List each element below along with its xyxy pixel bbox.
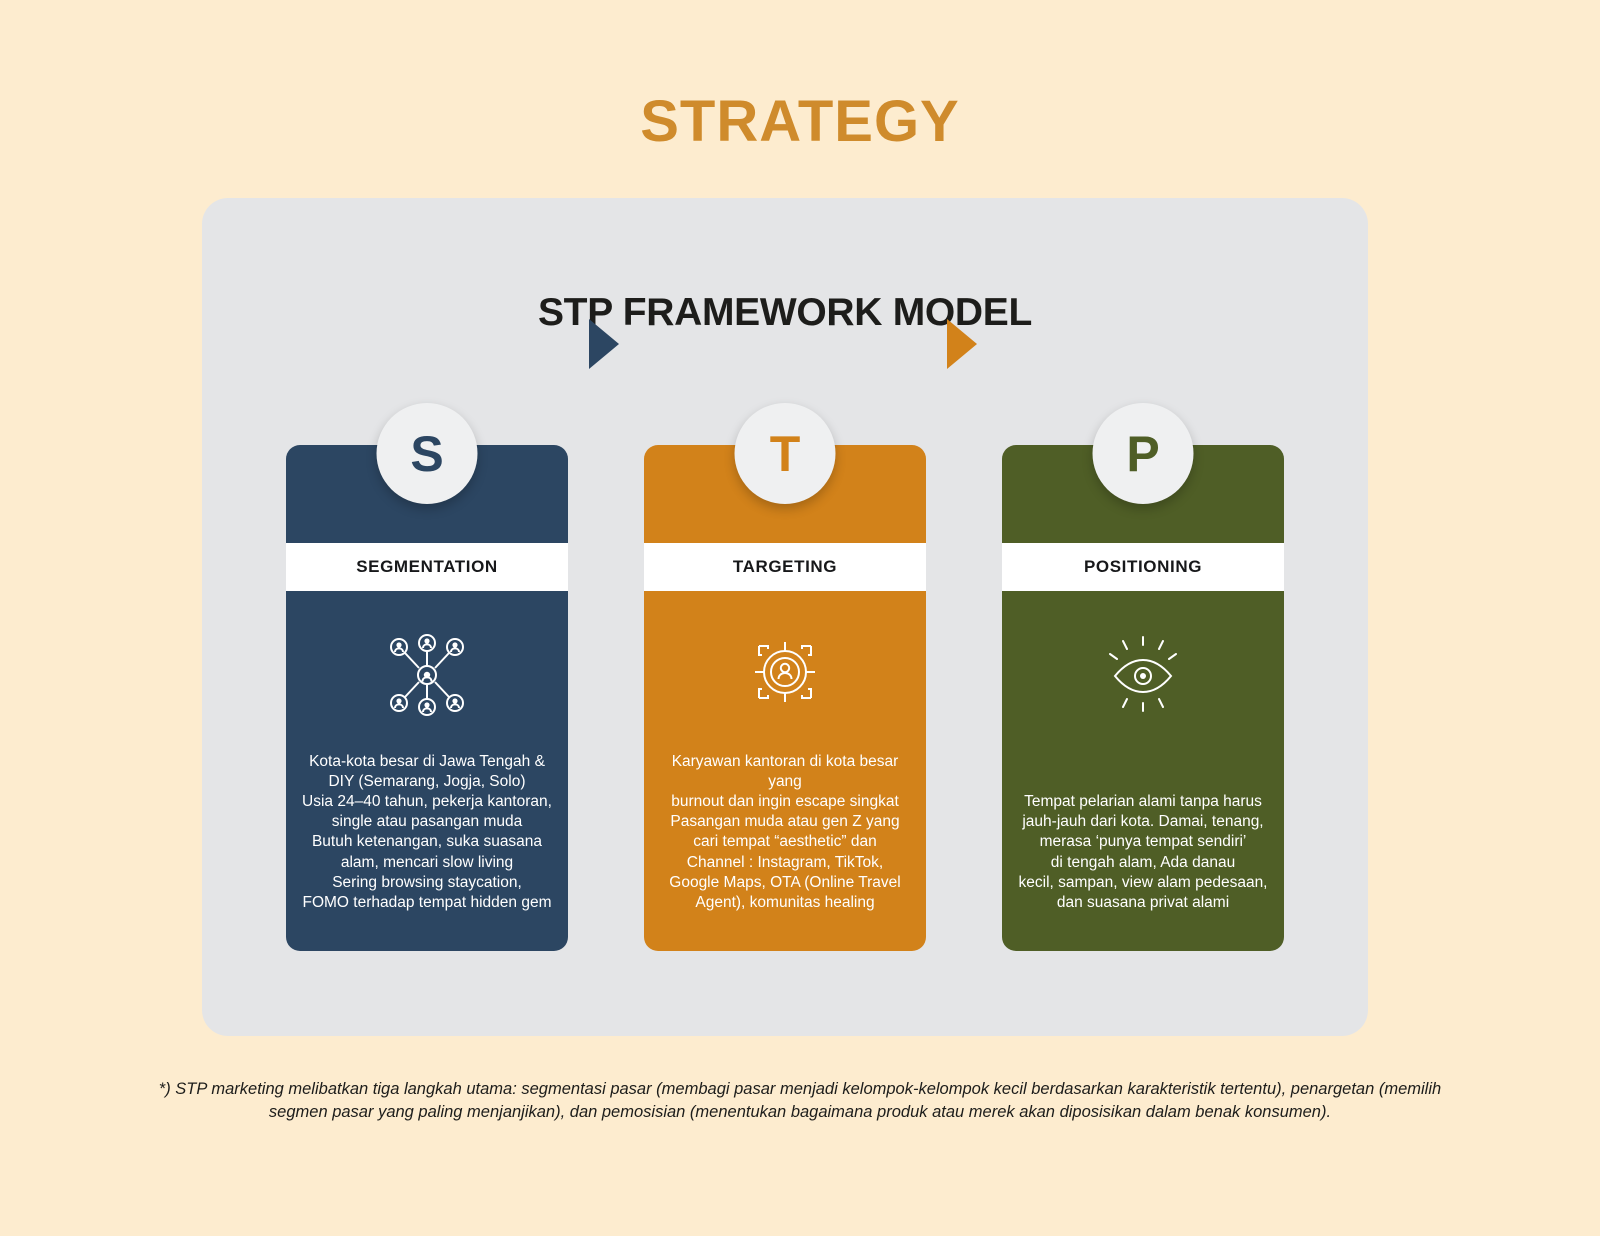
badge-t: T xyxy=(735,403,836,504)
card-segmentation-label: SEGMENTATION xyxy=(356,557,498,577)
card-segmentation-body: SEGMENTATION xyxy=(286,445,568,951)
card-targeting-label-band: TARGETING xyxy=(644,543,926,591)
arrow-targeting-to-positioning xyxy=(947,319,977,369)
panel-heading: STP FRAMEWORK MODEL xyxy=(202,291,1368,335)
badge-p-letter: P xyxy=(1126,425,1159,483)
badge-p: P xyxy=(1093,403,1194,504)
badge-s-letter: S xyxy=(410,425,443,483)
network-people-icon xyxy=(286,629,568,721)
card-positioning-label: POSITIONING xyxy=(1084,557,1202,577)
card-positioning-content: Tempat pelarian alami tanpa harus jauh-j… xyxy=(1002,591,1284,951)
card-positioning-text: Tempat pelarian alami tanpa harus jauh-j… xyxy=(1014,792,1272,913)
card-segmentation[interactable]: SEGMENTATION xyxy=(286,445,568,951)
badge-t-letter: T xyxy=(770,425,801,483)
card-targeting-content: Karyawan kantoran di kota besar yang bur… xyxy=(644,591,926,951)
framework-panel: STP FRAMEWORK MODEL SEGMENTATION xyxy=(202,198,1368,1036)
card-segmentation-text: Kota-kota besar di Jawa Tengah & DIY (Se… xyxy=(298,752,556,913)
card-positioning-body: POSITIONING Tempat pelarian alami tanpa … xyxy=(1002,445,1284,951)
card-targeting-label: TARGETING xyxy=(733,557,837,577)
card-positioning-label-band: POSITIONING xyxy=(1002,543,1284,591)
cards-row: SEGMENTATION xyxy=(286,445,1284,951)
badge-s: S xyxy=(377,403,478,504)
eye-vision-icon xyxy=(1002,629,1284,715)
card-segmentation-label-band: SEGMENTATION xyxy=(286,543,568,591)
card-targeting-body: TARGETING Karyawan kantoran di kot xyxy=(644,445,926,951)
footnote: *) STP marketing melibatkan tiga langkah… xyxy=(150,1078,1450,1125)
arrow-segmentation-to-targeting xyxy=(589,319,619,369)
card-targeting[interactable]: TARGETING Karyawan kantoran di kot xyxy=(644,445,926,951)
target-person-icon xyxy=(644,629,926,715)
card-positioning[interactable]: POSITIONING Tempat pelarian alami tanpa … xyxy=(1002,445,1284,951)
page-title: STRATEGY xyxy=(0,88,1600,155)
card-targeting-text: Karyawan kantoran di kota besar yang bur… xyxy=(656,752,914,913)
card-segmentation-content: Kota-kota besar di Jawa Tengah & DIY (Se… xyxy=(286,591,568,951)
